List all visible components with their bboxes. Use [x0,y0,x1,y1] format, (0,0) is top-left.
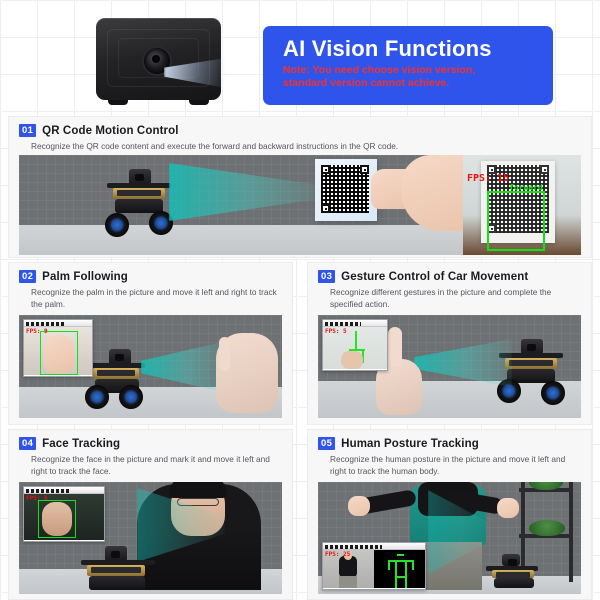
preview-video-frame: FPS: 9 [24,327,92,375]
person-hair [169,482,227,498]
section-card-04: 04 Face Tracking Recognize the face in t… [8,429,293,600]
robot-controller-board [93,368,139,379]
palm-thumb [219,337,230,371]
skeleton-bone [395,576,397,588]
preview-person-legs [339,576,357,588]
robot-car [486,554,538,588]
skeleton-bone [405,560,407,576]
section-03-header: 03 Gesture Control of Car Movement [308,263,591,283]
version-note: Note: You need choose vision version, st… [283,64,535,90]
section-04-header: 04 Face Tracking [9,430,292,450]
section-05-badge: 05 [318,437,335,450]
section-03-photo: FPS: 5 [318,315,581,418]
qr-code-cube [315,159,377,221]
section-04-photo: FPS: 5 [19,482,282,594]
section-04-description: Recognize the face in the picture and ma… [9,450,292,477]
qr-eye-bottom-left [321,204,330,213]
section-05-header: 05 Human Posture Tracking [308,430,591,450]
index-finger [388,327,402,367]
robot-camera-tower [502,554,520,566]
section-02-header: 02 Palm Following [9,263,292,283]
section-02-fps-label: FPS: 9 [26,328,48,335]
version-note-line1: Note: You need choose vision version, [283,64,535,77]
version-note-line2: standard version cannot achieve. [283,77,535,90]
robot-chassis [89,576,145,590]
person-hand-left [348,496,370,516]
pose-skeleton [386,554,414,588]
qr-eye-top-right [360,165,369,174]
robot-car [87,349,147,409]
preview-titlebar [24,320,92,327]
preview-titlebar-text [325,322,361,326]
skeleton-bone [388,560,390,570]
section-05-preview-window: FPS: 25 [322,542,426,590]
section-03-description: Recognize different gestures in the pict… [308,283,591,310]
section-01-fps-label: FPS: 15 [467,173,509,184]
section-05-fps-label: FPS: 25 [325,551,350,558]
skeleton-bone [405,576,407,588]
section-card-01: 01 QR Code Motion Control Recognize the … [8,116,592,258]
section-01-photo: FPS: 15 forward [19,155,581,255]
section-02-title: Palm Following [42,271,128,283]
hero-header: AI Vision Functions Note: You need choos… [0,0,600,116]
preview-skeleton-half [374,550,425,588]
robot-controller-board [492,570,534,578]
skeleton-bone [390,560,412,562]
section-01-title: QR Code Motion Control [42,125,178,137]
section-02-description: Recognize the palm in the picture and mo… [9,283,292,310]
preview-titlebar-text [26,489,71,493]
preview-titlebar-text [325,545,382,549]
qr-eye-top-left [321,165,330,174]
section-04-fps-label: FPS: 5 [26,495,48,502]
robot-chassis [494,578,534,588]
section-03-fps-label: FPS: 5 [325,328,347,335]
robot-wheel-left [105,213,129,237]
preview-video-frame: FPS: 5 [323,327,387,369]
robot-wheel-right [119,385,143,409]
preview-titlebar [323,320,387,327]
robot-wheel-right [541,381,565,405]
robot-car [81,546,155,594]
section-card-02: 02 Palm Following Recognize the palm in … [8,262,293,425]
section-05-description: Recognize the human posture in the pictu… [308,450,591,477]
qr-code-pattern [321,165,369,213]
shelf-post-left [569,482,573,582]
section-04-title: Face Tracking [42,438,120,450]
section-02-preview-window: FPS: 9 [23,319,93,377]
robot-wheel-left [85,385,109,409]
person-hand-right [497,498,519,518]
camera-body [96,18,221,100]
preview-titlebar-text [26,322,64,326]
skeleton-bone [355,331,357,351]
section-05-photo: FPS: 25 [318,482,581,594]
shelf-plant-mid [529,520,565,536]
robot-controller-board [87,565,145,576]
section-04-preview-window: FPS: 5 [23,486,105,542]
robot-car [107,169,171,237]
robot-controller-board [505,358,557,369]
section-01-badge: 01 [19,124,36,137]
section-02-detection-box [40,331,78,375]
section-card-03: 03 Gesture Control of Car Movement Recog… [307,262,592,425]
preview-titlebar [24,487,104,494]
section-03-title: Gesture Control of Car Movement [341,271,528,283]
preview-titlebar [323,543,425,550]
section-04-badge: 04 [19,437,36,450]
page-title: AI Vision Functions [283,36,543,62]
cv-qr-eye-tr [540,165,549,174]
section-card-05: 05 Human Posture Tracking Recognize the … [307,429,592,600]
section-05-title: Human Posture Tracking [341,438,479,450]
skeleton-bone [412,560,414,570]
preview-fist [341,351,363,369]
section-02-badge: 02 [19,270,36,283]
ai-vision-functions-page: AI Vision Functions Note: You need choos… [0,0,600,600]
section-01-header: 01 QR Code Motion Control [9,117,591,137]
preview-video-frame: FPS: 25 [323,550,425,588]
preview-video-frame: FPS: 5 [24,494,104,540]
section-02-photo: FPS: 9 [19,315,282,418]
skeleton-bone [397,554,404,556]
section-01-detection-label: forward [509,183,543,192]
section-01-camera-view: FPS: 15 forward [463,155,581,255]
skeleton-bone [395,560,397,576]
section-01-detection-box [487,191,545,251]
section-04-detection-box [38,500,76,538]
robot-controller-board [113,188,165,199]
camera-module-icon [96,18,221,100]
section-01-description: Recognize the QR code content and execut… [9,137,591,153]
section-03-preview-window: FPS: 5 [322,319,388,371]
section-03-badge: 03 [318,270,335,283]
